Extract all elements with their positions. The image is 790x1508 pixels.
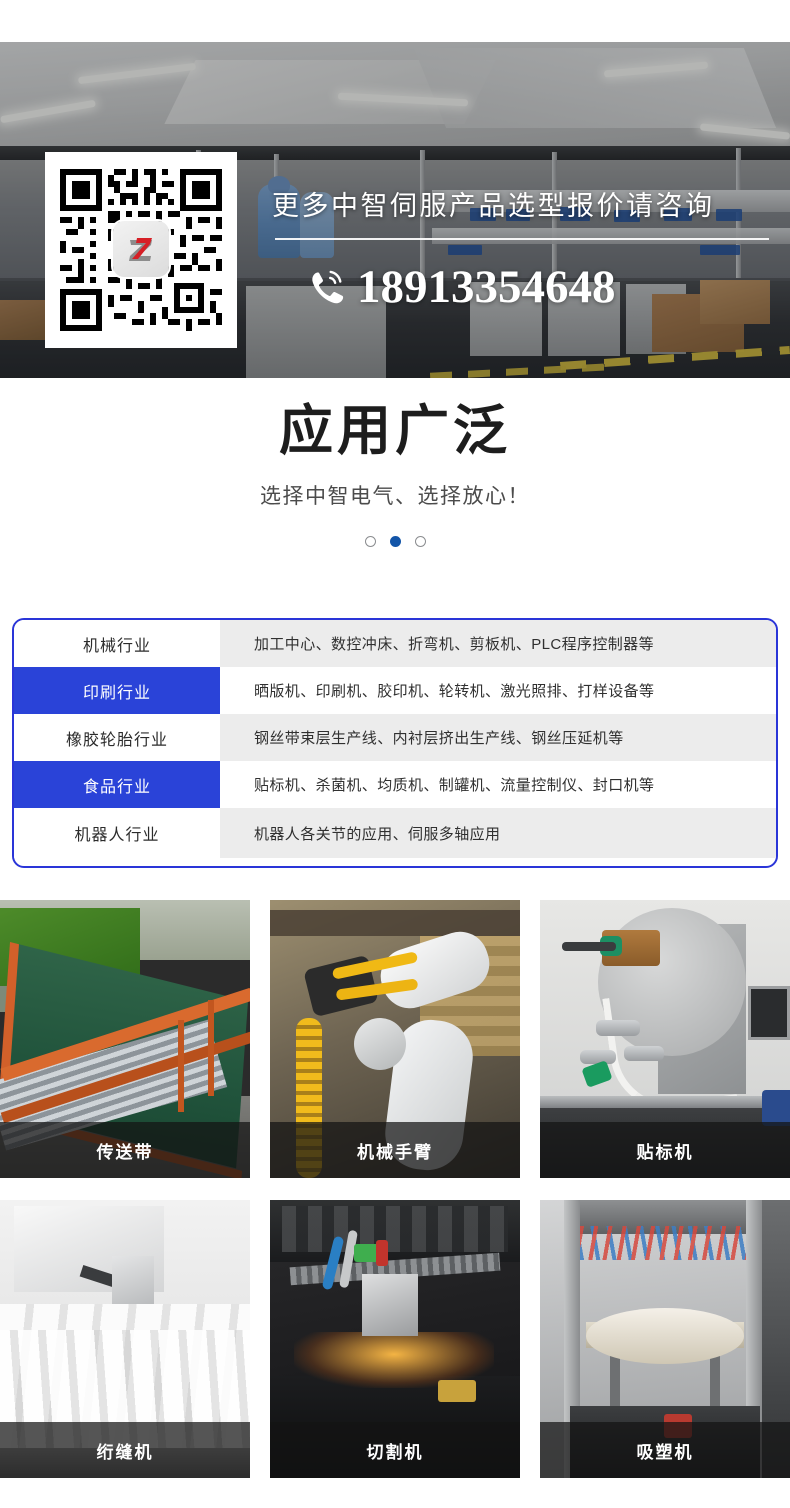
banner-headline: 更多中智伺服产品选型报价请咨询 bbox=[272, 184, 772, 223]
table-row: 食品行业 贴标机、杀菌机、均质机、制罐机、流量控制仪、封口机等 bbox=[14, 761, 776, 808]
page-subtitle: 选择中智电气、选择放心！ bbox=[0, 480, 790, 510]
industry-application-table: 机械行业 加工中心、数控冲床、折弯机、剪板机、PLC程序控制器等 印刷行业 晒版… bbox=[12, 618, 778, 868]
section-title-block: 应用广泛 选择中智电气、选择放心！ bbox=[0, 400, 790, 547]
logo-z-icon bbox=[124, 232, 158, 266]
table-cell-industry: 橡胶轮胎行业 bbox=[14, 714, 220, 761]
gallery-caption: 绗缝机 bbox=[0, 1422, 250, 1478]
table-row: 机械行业 加工中心、数控冲床、折弯机、剪板机、PLC程序控制器等 bbox=[14, 620, 776, 667]
gallery-caption: 机械手臂 bbox=[270, 1122, 520, 1178]
phone-ring-icon bbox=[305, 266, 349, 310]
table-cell-industry: 食品行业 bbox=[14, 761, 220, 808]
gallery-item-labeler[interactable]: 贴标机 bbox=[540, 900, 790, 1178]
qr-code-image[interactable] bbox=[45, 152, 237, 348]
banner-divider bbox=[275, 238, 769, 240]
gallery-caption: 吸塑机 bbox=[540, 1422, 790, 1478]
table-cell-applications: 加工中心、数控冲床、折弯机、剪板机、PLC程序控制器等 bbox=[220, 620, 776, 667]
gallery-item-vacuum-former[interactable]: 吸塑机 bbox=[540, 1200, 790, 1478]
carousel-dot-2[interactable] bbox=[390, 536, 401, 547]
gallery-item-cutter[interactable]: 切割机 bbox=[270, 1200, 520, 1478]
table-row: 机器人行业 机器人各关节的应用、伺服多轴应用 bbox=[14, 808, 776, 858]
carousel-dot-3[interactable] bbox=[415, 536, 426, 547]
hero-banner: 更多中智伺服产品选型报价请咨询 18913354648 bbox=[0, 42, 790, 378]
table-cell-applications: 晒版机、印刷机、胶印机、轮转机、激光照排、打样设备等 bbox=[220, 667, 776, 714]
phone-number: 18913354648 bbox=[357, 264, 616, 311]
table-cell-industry: 机械行业 bbox=[14, 620, 220, 667]
gallery-item-robot-arm[interactable]: 机械手臂 bbox=[270, 900, 520, 1178]
gallery-item-quilting[interactable]: 绗缝机 bbox=[0, 1200, 250, 1478]
table-cell-industry: 机器人行业 bbox=[14, 808, 220, 858]
brand-logo-icon bbox=[113, 221, 169, 277]
table-cell-industry: 印刷行业 bbox=[14, 667, 220, 714]
table-row: 印刷行业 晒版机、印刷机、胶印机、轮转机、激光照排、打样设备等 bbox=[14, 667, 776, 714]
carousel-dots bbox=[0, 536, 790, 547]
table-cell-applications: 钢丝带束层生产线、内衬层挤出生产线、钢丝压延机等 bbox=[220, 714, 776, 761]
table-cell-applications: 机器人各关节的应用、伺服多轴应用 bbox=[220, 808, 776, 858]
gallery-caption: 贴标机 bbox=[540, 1122, 790, 1178]
page-root: 更多中智伺服产品选型报价请咨询 18913354648 应用广泛 选择中智电气、… bbox=[0, 0, 790, 1508]
banner-phone-block[interactable]: 18913354648 bbox=[305, 264, 616, 311]
table-row: 橡胶轮胎行业 钢丝带束层生产线、内衬层挤出生产线、钢丝压延机等 bbox=[14, 714, 776, 761]
page-title: 应用广泛 bbox=[0, 400, 790, 462]
carousel-dot-1[interactable] bbox=[365, 536, 376, 547]
gallery-caption: 传送带 bbox=[0, 1122, 250, 1178]
gallery-caption: 切割机 bbox=[270, 1422, 520, 1478]
table-cell-applications: 贴标机、杀菌机、均质机、制罐机、流量控制仪、封口机等 bbox=[220, 761, 776, 808]
application-gallery: 传送带 机械手臂 贴标机 bbox=[0, 900, 790, 1478]
gallery-item-conveyor[interactable]: 传送带 bbox=[0, 900, 250, 1178]
